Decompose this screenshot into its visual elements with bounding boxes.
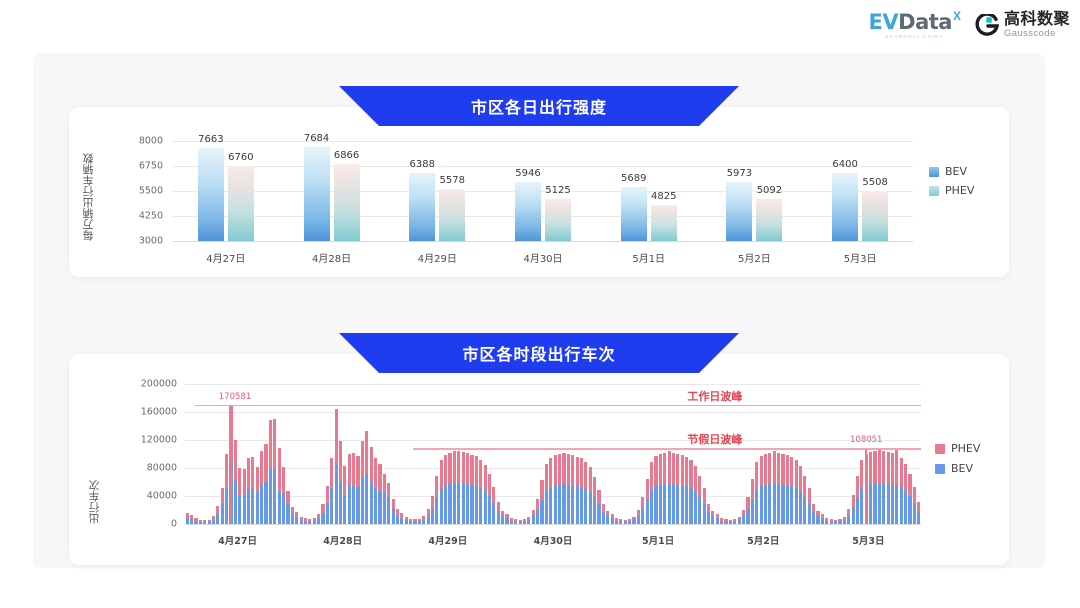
chart-2-bar-segment-bev — [615, 521, 618, 525]
chart-2-hour-bar — [221, 488, 224, 524]
chart-1-legend-label: BEV — [945, 165, 967, 178]
chart-2-bar-segment-bev — [738, 520, 741, 524]
chart-2-x-tick-label: 5月2日 — [747, 533, 779, 547]
chart-2-bar-segment-phev — [720, 518, 723, 521]
chart-2-hour-bar — [764, 454, 767, 524]
chart-2-bar-segment-bev — [361, 478, 364, 524]
chart-2-bar-segment-phev — [361, 441, 364, 477]
chart-2-bar-segment-phev — [519, 520, 522, 522]
chart-2-bar-segment-bev — [470, 485, 473, 524]
chart-2-hour-bar — [317, 514, 320, 524]
chart-2-bar-segment-phev — [484, 465, 487, 491]
chart-1-legend-swatch — [929, 167, 939, 177]
chart-2-bar-segment-phev — [427, 509, 430, 516]
chart-2-bar-segment-bev — [755, 490, 758, 524]
chart-2-bar-segment-phev — [405, 517, 408, 520]
chart-2-hour-bar — [834, 520, 837, 524]
chart-1-legend-swatch — [929, 186, 939, 196]
chart-1-gridline — [173, 166, 913, 167]
chart-2-hour-bar — [873, 451, 876, 525]
chart-2-bar-segment-bev — [781, 485, 784, 524]
chart-2-bar-segment-bev — [352, 486, 355, 525]
slide-root: EVData X SHANGHAI CHINA 高科数聚 Gausscode 市… — [0, 0, 1080, 608]
chart-2-bar-segment-phev — [913, 487, 916, 503]
chart-2-hour-bar — [900, 458, 903, 525]
chart-1-y-tick-label: 5500 — [69, 186, 163, 197]
chart-2-annotation-line — [195, 405, 921, 407]
chart-2-bar-segment-bev — [427, 516, 430, 524]
chart-2-bar-segment-phev — [755, 462, 758, 489]
chart-2-bar-segment-phev — [593, 477, 596, 497]
chart-2-bar-segment-phev — [580, 458, 583, 487]
chart-2-hour-bar — [418, 519, 421, 524]
chart-2-hour-bar — [908, 474, 911, 524]
chart-1-legend[interactable]: BEVPHEV — [929, 165, 974, 197]
chart-2-hour-bar — [326, 486, 329, 524]
chart-2-bar-segment-phev — [632, 517, 635, 520]
chart-2-gridline — [185, 440, 921, 441]
chart-2-bar-segment-phev — [339, 441, 342, 482]
chart-2-bar-segment-phev — [278, 448, 281, 491]
chart-2-hour-bar — [746, 497, 749, 524]
chart-2-hour-bar — [435, 476, 438, 524]
chart-2-hour-bar — [356, 456, 359, 524]
chart-2-bar-segment-bev — [589, 492, 592, 524]
chart-1-gridline — [173, 241, 913, 242]
chart-2-bar-segment-bev — [409, 521, 412, 524]
chart-2-bar-segment-phev — [505, 514, 508, 518]
gausscode-name-cn: 高科数聚 — [1004, 12, 1070, 29]
chart-2-bar-segment-bev — [501, 516, 504, 524]
chart-2-hour-bar — [409, 519, 412, 524]
chart-2-bar-segment-phev — [803, 476, 806, 497]
chart-2-bar-segment-bev — [383, 492, 386, 524]
chart-2-bar-segment-phev — [536, 499, 539, 510]
chart-2-bar-segment-phev — [873, 451, 876, 484]
chart-2-bar-segment-phev — [374, 458, 377, 488]
chart-2-hour-bar — [427, 509, 430, 524]
chart-2-hour-bar — [887, 452, 890, 524]
chart-2-bar-segment-bev — [803, 497, 806, 524]
chart-2-hour-bar — [479, 460, 482, 524]
chart-2-hour-bar — [602, 504, 605, 524]
chart-2-hour-bar — [286, 491, 289, 524]
chart-2-bar-segment-phev — [887, 452, 890, 484]
chart-2-bar-segment-phev — [760, 456, 763, 486]
chart-2-y-tick-label: 160000 — [69, 407, 177, 418]
chart-1-bar-bev — [621, 187, 647, 241]
chart-2-bar-segment-phev — [733, 519, 736, 521]
chart-2-bar-segment-phev — [777, 453, 780, 485]
chart-1-y-tick-label: 8000 — [69, 136, 163, 147]
chart-2-bar-segment-phev — [392, 499, 395, 509]
chart-2-bar-segment-bev — [343, 495, 346, 524]
chart-2-legend-item[interactable]: PHEV — [935, 442, 980, 455]
chart-2-bar-segment-phev — [689, 460, 692, 488]
chart-2-hour-bar — [808, 488, 811, 524]
chart-2-hour-bar — [400, 513, 403, 524]
chart-2-bar-segment-phev — [917, 502, 920, 511]
chart-2-annotation-label: 工作日波峰 — [687, 388, 742, 404]
chart-2-bar-segment-phev — [729, 520, 732, 522]
chart-2-bar-segment-bev — [549, 487, 552, 524]
chart-2-bar-segment-bev — [676, 485, 679, 524]
chart-2-bar-segment-phev — [597, 490, 600, 505]
chart-2-bar-segment-bev — [654, 486, 657, 524]
chart-2-bar-segment-phev — [650, 462, 653, 489]
chart-1-x-tick-label: 4月28日 — [312, 250, 351, 265]
chart-2-hour-bar — [488, 474, 491, 524]
chart-2-bar-segment-phev — [470, 455, 473, 485]
chart-2-hour-bar — [405, 517, 408, 524]
chart-2-hour-bar — [768, 453, 771, 524]
chart-2-bar-segment-bev — [619, 521, 622, 524]
chart-2-bar-segment-phev — [243, 469, 246, 495]
chart-2-hour-bar — [194, 518, 197, 524]
chart-2-bar-segment-bev — [356, 487, 359, 524]
chart-2-bar-segment-bev — [694, 491, 697, 524]
chart-2-bar-segment-phev — [908, 474, 911, 496]
chart-2-hour-bar — [790, 457, 793, 524]
chart-2-hour-bar — [685, 457, 688, 524]
chart-2-y-tick-label: 80000 — [69, 463, 177, 474]
chart-2-bar-segment-bev — [597, 504, 600, 524]
chart-2-hour-bar — [462, 452, 465, 524]
chart-2-bar-segment-bev — [317, 518, 320, 524]
chart-2-bar-segment-phev — [856, 476, 859, 498]
chart-2-bar-segment-phev — [234, 440, 237, 481]
chart-2-bar-segment-bev — [576, 486, 579, 524]
chart-2-bar-segment-bev — [571, 486, 574, 525]
chart-2-bar-segment-phev — [786, 455, 789, 485]
chart-2-hour-bar — [291, 507, 294, 524]
chart-2-hour-bar — [361, 441, 364, 524]
chart-2-bar-segment-phev — [576, 457, 579, 486]
chart-2-bar-segment-phev — [453, 451, 456, 483]
chart-2-bar-segment-bev — [795, 488, 798, 524]
chart-2-hour-bar — [703, 488, 706, 524]
chart-2-bar-segment-bev — [435, 497, 438, 524]
chart-2-bar-segment-bev — [396, 516, 399, 524]
chart-2-bar-segment-bev — [707, 512, 710, 524]
chart-2-bar-segment-phev — [190, 515, 193, 519]
chart-2-bar-segment-phev — [611, 514, 614, 518]
evdata-logo: EVData X SHANGHAI CHINA — [869, 12, 961, 39]
chart-2-bar-segment-bev — [703, 504, 706, 524]
chart-2-bar-segment-phev — [352, 453, 355, 486]
chart-2-hour-bar — [869, 452, 872, 524]
chart-2-legend-swatch — [935, 464, 945, 474]
chart-2-bar-segment-bev — [440, 489, 443, 524]
chart-2-hour-bar — [847, 509, 850, 524]
chart-card-1: 7663676076846866638855785946512556894825… — [69, 107, 1009, 277]
brand-logo-bar: EVData X SHANGHAI CHINA 高科数聚 Gausscode — [869, 12, 1070, 39]
gausscode-name-en: Gausscode — [1004, 29, 1070, 39]
chart-2-bar-segment-phev — [475, 456, 478, 485]
chart-2-bar-segment-phev — [830, 519, 833, 521]
chart-2-bar-segment-bev — [895, 485, 898, 524]
chart-2-x-tick-label: 4月30日 — [534, 533, 573, 547]
evdata-logo-data: Data — [898, 10, 952, 34]
chart-2-hour-bar — [422, 516, 425, 524]
chart-2-bar-segment-bev — [812, 512, 815, 524]
chart-1-legend-item[interactable]: PHEV — [929, 184, 974, 197]
chart-2-bar-segment-bev — [611, 518, 614, 524]
chart-2-bar-segment-bev — [777, 484, 780, 524]
chart-2-bar-segment-phev — [431, 496, 434, 509]
chart-2-y-tick-label: 40000 — [69, 491, 177, 502]
chart-1-bar-value-label: 5946 — [515, 168, 540, 179]
chart-2-bar-segment-bev — [413, 521, 416, 524]
chart-2-bar-segment-bev — [856, 497, 859, 524]
chart-2-bar-segment-bev — [536, 510, 539, 524]
chart-2-bar-segment-phev — [291, 507, 294, 514]
chart-2-peak-spike — [865, 448, 867, 524]
chart-2-bar-segment-bev — [269, 468, 272, 524]
chart-2-peak-value-label: 108051 — [850, 435, 882, 445]
chart-2-hour-bar — [720, 518, 723, 524]
chart-2-hour-bar — [676, 454, 679, 524]
chart-2-hour-bar — [781, 454, 784, 524]
chart-2-bar-segment-bev — [751, 499, 754, 524]
chart-2-bar-segment-phev — [619, 519, 622, 521]
chart-2-bar-segment-phev — [435, 476, 438, 498]
chart-1-legend-label: PHEV — [945, 184, 974, 197]
chart-2-bar-segment-bev — [904, 490, 907, 524]
chart-2-bar-segment-phev — [335, 409, 338, 463]
chart-2-y-tick-label: 120000 — [69, 435, 177, 446]
chart-1-bar-phev — [228, 166, 254, 241]
chart-2-bar-segment-phev — [659, 454, 662, 485]
chart-2-bar-segment-bev — [834, 521, 837, 524]
chart-2-hour-bar — [212, 516, 215, 524]
chart-2-bar-segment-bev — [264, 482, 267, 524]
chart-2-hour-bar — [549, 458, 552, 525]
chart-2-bar-segment-phev — [799, 466, 802, 491]
chart-2-hour-bar — [619, 519, 622, 524]
chart-2-bar-segment-bev — [733, 521, 736, 524]
chart-2-bar-segment-phev — [694, 466, 697, 491]
chart-2-bar-segment-bev — [632, 520, 635, 524]
chart-2-hour-bar — [540, 480, 543, 524]
chart-2-hour-bar — [637, 510, 640, 524]
chart-2-bar-segment-bev — [689, 488, 692, 524]
chart-2-bar-segment-bev — [698, 497, 701, 524]
chart-2-hour-bar — [856, 476, 859, 524]
chart-2-bar-segment-phev — [203, 520, 206, 522]
chart-2-hour-bar — [313, 518, 316, 524]
chart-2-bar-segment-bev — [878, 483, 881, 524]
chart-2-bar-segment-phev — [558, 454, 561, 485]
chart-card-2: 170581108051 出行车次 0400008000012000016000… — [69, 354, 1009, 565]
content-panel: 市区各日出行强度 7663676076846866638855785946512… — [33, 53, 1045, 568]
chart-2-legend[interactable]: PHEVBEV — [935, 442, 980, 475]
chart-2-bar-segment-bev — [799, 491, 802, 524]
chart-1-bar-value-label: 6760 — [228, 152, 253, 163]
chart-2-bar-segment-phev — [317, 514, 320, 518]
chart-2-hour-bar — [567, 454, 570, 524]
chart-2-bar-segment-bev — [199, 522, 202, 524]
chart-2-bar-segment-phev — [527, 517, 530, 520]
chart-2-bar-segment-phev — [501, 511, 504, 517]
chart-2-bar-segment-phev — [313, 518, 316, 520]
chart-2-bar-segment-bev — [256, 492, 259, 524]
chart-2-hour-bar — [510, 518, 513, 524]
chart-2-bar-segment-phev — [256, 467, 259, 492]
chart-2-hour-bar — [260, 451, 263, 525]
chart-2-hour-bar — [457, 451, 460, 525]
gausscode-logo: 高科数聚 Gausscode — [975, 12, 1070, 39]
chart-2-hour-bar — [335, 409, 338, 524]
chart-2-bar-segment-phev — [668, 451, 671, 483]
chart-1-bar-value-label: 5689 — [621, 173, 646, 184]
chart-2-bar-segment-bev — [462, 483, 465, 524]
chart-2-bar-segment-phev — [860, 460, 863, 489]
chart-1-bar-phev — [439, 189, 465, 241]
chart-1-bar-value-label: 7663 — [198, 134, 223, 145]
chart-2-bar-segment-phev — [869, 452, 872, 484]
chart-2-bar-segment-bev — [825, 521, 828, 525]
chart-2-bar-segment-bev — [225, 488, 228, 524]
chart-2-bar-segment-bev — [720, 521, 723, 525]
chart-2-hour-bar — [519, 520, 522, 524]
chart-2-bar-segment-bev — [628, 521, 631, 524]
chart-2-bar-segment-bev — [392, 509, 395, 524]
chart-2-bar-segment-bev — [711, 516, 714, 524]
chart-2-hour-bar — [545, 464, 548, 524]
chart-2-bar-segment-bev — [208, 522, 211, 524]
chart-1-bar-value-label: 4825 — [651, 191, 676, 202]
chart-2-bar-segment-phev — [742, 510, 745, 516]
chart-2-hour-bar — [711, 511, 714, 524]
chart-2-bar-segment-phev — [440, 460, 443, 489]
chart-2-hour-bar — [632, 517, 635, 524]
chart-2-x-tick-label: 4月29日 — [428, 533, 467, 547]
chart-2-bar-segment-phev — [589, 467, 592, 492]
chart-2-bar-segment-phev — [238, 468, 241, 495]
chart-2-bar-segment-phev — [654, 456, 657, 486]
chart-2-hour-bar — [554, 455, 557, 524]
chart-2-hour-bar — [672, 453, 675, 524]
chart-2-hour-bar — [278, 448, 281, 524]
chart-2-bar-segment-phev — [571, 455, 574, 485]
chart-2-bar-segment-bev — [234, 481, 237, 524]
chart-2-hour-bar — [208, 520, 211, 524]
chart-2-bar-segment-bev — [308, 521, 311, 524]
chart-2-bar-segment-phev — [488, 474, 491, 496]
chart-1-y-tick-label: 4250 — [69, 211, 163, 222]
chart-2-hour-bar — [330, 458, 333, 525]
chart-2-bar-segment-bev — [321, 513, 324, 524]
chart-2-hour-bar — [689, 460, 692, 524]
chart-2-bar-segment-phev — [365, 431, 368, 474]
chart-2-hour-bar — [895, 448, 898, 524]
chart-1-bar-value-label: 7684 — [304, 133, 329, 144]
chart-2-bar-segment-bev — [637, 516, 640, 524]
chart-2-bar-segment-bev — [221, 504, 224, 524]
chart-2-bar-segment-phev — [225, 454, 228, 488]
chart-1-y-tick-label: 6750 — [69, 161, 163, 172]
chart-2-hour-bar — [562, 453, 565, 524]
chart-2-bar-segment-phev — [751, 479, 754, 499]
chart-2-bar-segment-bev — [492, 503, 495, 524]
chart-2-bar-segment-bev — [567, 485, 570, 524]
chart-2-bar-segment-phev — [186, 513, 189, 518]
chart-2-hour-bar — [339, 441, 342, 524]
chart-1-y-tick-label: 3000 — [69, 236, 163, 247]
chart-2-hour-bar — [492, 487, 495, 524]
chart-1-bar-phev — [334, 164, 360, 241]
chart-2-bar-segment-phev — [216, 506, 219, 514]
chart-2-bar-segment-phev — [466, 453, 469, 484]
chart-2-bar-segment-bev — [786, 486, 789, 525]
chart-2-legend-item[interactable]: BEV — [935, 462, 980, 475]
chart-2-hour-bar — [295, 512, 298, 524]
chart-2-bar-segment-phev — [514, 519, 517, 521]
chart-2-bar-segment-bev — [821, 518, 824, 524]
chart-2-hour-bar — [830, 519, 833, 524]
chart-2-hour-bar — [755, 462, 758, 524]
chart-2-bar-segment-bev — [479, 488, 482, 524]
chart-2-bar-segment-phev — [396, 509, 399, 515]
chart-2-bar-segment-bev — [650, 490, 653, 524]
chart-2-hour-bar — [742, 510, 745, 524]
chart-2-hour-bar — [891, 453, 894, 524]
chart-2-bar-segment-bev — [238, 495, 241, 524]
chart-2-hour-bar — [466, 453, 469, 524]
chart-2-hour-bar — [611, 514, 614, 524]
chart-2-bar-segment-phev — [264, 444, 267, 482]
chart-2-hour-bar — [803, 476, 806, 524]
chart-2-bar-segment-phev — [768, 453, 771, 485]
chart-2-hour-bar — [773, 451, 776, 524]
chart-2-bar-segment-phev — [843, 517, 846, 520]
chart-2-legend-swatch — [935, 444, 945, 454]
chart-2-bar-segment-phev — [383, 474, 386, 492]
chart-2-bar-segment-phev — [479, 460, 482, 488]
chart-2-bar-segment-bev — [646, 499, 649, 524]
chart-2-bar-segment-phev — [304, 518, 307, 520]
chart-2-bar-segment-bev — [659, 485, 662, 524]
chart-2-bar-segment-phev — [882, 451, 885, 484]
chart-2-bar-segment-bev — [593, 497, 596, 524]
chart-2-bar-segment-phev — [413, 519, 416, 521]
chart-2-bar-segment-phev — [746, 497, 749, 509]
chart-2-bar-segment-phev — [852, 495, 855, 508]
chart-2-bar-segment-bev — [913, 503, 916, 524]
chart-2-hour-bar — [251, 457, 254, 524]
chart-2-hour-bar — [681, 455, 684, 524]
chart-1-bar-value-label: 6388 — [410, 159, 435, 170]
chart-2-bar-segment-bev — [304, 521, 307, 524]
chart-2-hour-bar — [597, 490, 600, 524]
chart-2-bar-segment-phev — [808, 488, 811, 503]
chart-2-hour-bar — [413, 519, 416, 524]
chart-2-bar-segment-bev — [847, 516, 850, 524]
chart-2-hour-bar — [448, 453, 451, 524]
chart-2-hour-bar — [190, 515, 193, 524]
chart-2-hour-bar — [777, 453, 780, 524]
section-title-banner-2: 市区各时段出行车次 — [339, 333, 739, 373]
chart-2-hour-bar — [624, 520, 627, 524]
chart-2-hour-bar — [698, 476, 701, 524]
chart-1-legend-item[interactable]: BEV — [929, 165, 974, 178]
chart-2-bar-segment-phev — [637, 510, 640, 516]
chart-2-hour-bar — [751, 479, 754, 525]
chart-2-bar-segment-bev — [514, 521, 517, 524]
chart-2-hour-bar — [646, 479, 649, 525]
chart-2-bar-segment-bev — [247, 488, 250, 524]
